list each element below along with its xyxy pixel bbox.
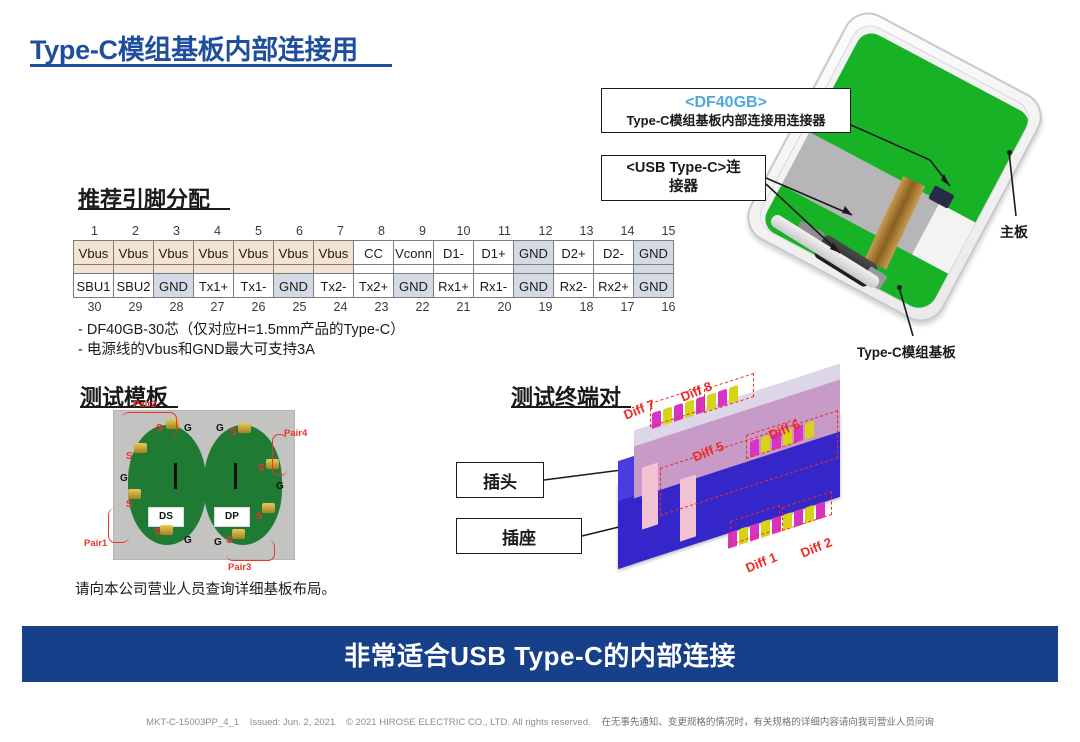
test-board-underline [80, 406, 178, 408]
pin-number-top-13: 13 [566, 222, 607, 240]
pin-assign-underline [78, 208, 230, 210]
callout-plug: 插头 [456, 462, 544, 498]
board-chip-label-ds: DS [148, 507, 184, 527]
pin-cell-top-14: D2- [593, 240, 634, 265]
pin-number-bottom-28: 28 [156, 298, 197, 316]
pin-cell-top-11: D1+ [473, 240, 514, 265]
pin-cell-divider-4 [193, 265, 234, 273]
board-slot-left [174, 463, 177, 489]
pin-cell-bottom-5: Tx1- [233, 273, 274, 298]
phone-body [738, 3, 1051, 330]
pin-cell-bottom-3: GND [153, 273, 194, 298]
pin-cell-top-12: GND [513, 240, 554, 265]
pin-number-top-2: 2 [115, 222, 156, 240]
pin-cell-top-10: D1- [433, 240, 474, 265]
pin-cell-divider-6 [273, 265, 314, 273]
pin-cell-divider-13 [553, 265, 594, 273]
label-typec-module: Type-C模组基板 [857, 341, 956, 361]
page-title: Type-C模组基板内部连接用 [30, 28, 358, 67]
board-pair-label-3: Pair3 [228, 562, 251, 573]
typec-module-leader-dot [897, 285, 902, 290]
board-label-g: G [184, 423, 192, 434]
pin-number-top-1: 1 [74, 222, 115, 240]
sma-connector [238, 423, 251, 433]
pin-cell-divider-15 [633, 265, 674, 273]
board-label-s: S [258, 463, 265, 474]
pin-notes: - DF40GB-30芯（仅对应H=1.5mm产品的Type-C） - 电源线的… [78, 320, 405, 360]
pin-cell-bottom-8: Tx2+ [353, 273, 394, 298]
test-board-caption: 请向本公司营业人员查询详细基板布局。 [75, 578, 336, 599]
sma-connector [128, 489, 141, 499]
connector-plug-leg-front [642, 462, 658, 529]
footer-issued: Issued: Jun. 2, 2021 [250, 717, 336, 728]
pin-table-bottom-numbers: 302928272625242322212019181716 [74, 298, 689, 316]
pin-cell-divider-3 [153, 265, 194, 273]
callout-receptacle-label: 插座 [502, 524, 536, 549]
pin-cell-divider-2 [113, 265, 154, 273]
pin-cell-top-15: GND [633, 240, 674, 265]
pin-cell-bottom-11: Rx1- [473, 273, 514, 298]
test-board-half-right [204, 425, 282, 545]
board-label-g: G [184, 535, 192, 546]
board-label-s: S [230, 427, 237, 438]
pin-cell-top-5: Vbus [233, 240, 274, 265]
board-label-s: S [126, 499, 133, 510]
device-illustration [745, 30, 1075, 330]
summary-banner-text: 非常适合USB Type-C的内部连接 [22, 626, 1058, 682]
pin-number-bottom-21: 21 [443, 298, 484, 316]
pin-number-top-5: 5 [238, 222, 279, 240]
callout-plug-label: 插头 [483, 468, 517, 493]
callout-df40gb: <DF40GB> Type-C模组基板内部连接用连接器 [601, 88, 851, 133]
board-label-g: G [120, 473, 128, 484]
board-pair-label-2: Pair2 [133, 399, 156, 410]
pin-number-bottom-27: 27 [197, 298, 238, 316]
pin-number-bottom-30: 30 [74, 298, 115, 316]
pin-table-top-numbers: 123456789101112131415 [74, 222, 689, 240]
board-label-g: G [216, 423, 224, 434]
pin-cell-top-2: Vbus [113, 240, 154, 265]
pin-number-bottom-26: 26 [238, 298, 279, 316]
label-mainboard: 主板 [1000, 222, 1028, 242]
board-label-g: G [276, 481, 284, 492]
connector-illustration [600, 395, 900, 580]
pin-number-bottom-29: 29 [115, 298, 156, 316]
pin-number-top-4: 4 [197, 222, 238, 240]
pin-note-1: - DF40GB-30芯（仅对应H=1.5mm产品的Type-C） [78, 320, 405, 340]
board-brace-2 [122, 412, 177, 437]
pin-cell-divider-5 [233, 265, 274, 273]
pin-cell-divider-7 [313, 265, 354, 273]
pin-number-top-3: 3 [156, 222, 197, 240]
pin-cell-bottom-15: GND [633, 273, 674, 298]
pin-cell-bottom-6: GND [273, 273, 314, 298]
board-label-g: G [214, 537, 222, 548]
board-pair-label-4: Pair4 [284, 428, 307, 439]
pin-number-bottom-23: 23 [361, 298, 402, 316]
pin-number-top-7: 7 [320, 222, 361, 240]
pin-number-bottom-25: 25 [279, 298, 320, 316]
pin-table-bottom-row: SBU1SBU2GNDTx1+Tx1-GNDTx2-Tx2+GNDRx1+Rx1… [74, 273, 689, 298]
slide-root: Type-C模组基板内部连接用 推荐引脚分配 12345678910111213… [0, 0, 1080, 742]
pin-cell-divider-8 [353, 265, 394, 273]
sma-connector [134, 443, 147, 453]
pin-cell-bottom-10: Rx1+ [433, 273, 474, 298]
pin-cell-divider-14 [593, 265, 634, 273]
board-brace-1 [108, 508, 129, 543]
pin-cell-bottom-13: Rx2- [553, 273, 594, 298]
phone-inner-cavity [753, 18, 1036, 315]
pin-number-top-6: 6 [279, 222, 320, 240]
board-pair-label-1: Pair1 [84, 538, 107, 549]
board-label-s: S [126, 451, 133, 462]
pin-cell-divider-1 [73, 265, 114, 273]
pin-cell-top-8: CC [353, 240, 394, 265]
pin-note-2: - 电源线的Vbus和GND最大可支持3A [78, 340, 405, 360]
pin-number-top-10: 10 [443, 222, 484, 240]
pin-cell-divider-9 [393, 265, 434, 273]
callout-usb-typec-line1: <USB Type-C>连 [626, 159, 740, 178]
pin-number-top-14: 14 [607, 222, 648, 240]
pin-cell-top-4: Vbus [193, 240, 234, 265]
footer: MKT-C-15003PP_4_1 Issued: Jun. 2, 2021 ©… [0, 714, 1080, 728]
pin-number-bottom-19: 19 [525, 298, 566, 316]
pin-assignment-table: 123456789101112131415 VbusVbusVbusVbusVb… [74, 222, 689, 316]
sma-connector [232, 529, 245, 539]
board-label-s: S [154, 527, 161, 538]
title-underline [30, 64, 392, 67]
pin-cell-bottom-7: Tx2- [313, 273, 354, 298]
pin-number-bottom-16: 16 [648, 298, 689, 316]
pin-cell-divider-12 [513, 265, 554, 273]
pin-number-top-8: 8 [361, 222, 402, 240]
pin-cell-top-7: Vbus [313, 240, 354, 265]
pin-number-bottom-18: 18 [566, 298, 607, 316]
pin-table-divider-row [74, 265, 689, 273]
pin-cell-top-9: Vconn [393, 240, 434, 265]
pin-cell-divider-11 [473, 265, 514, 273]
pin-table-top-row: VbusVbusVbusVbusVbusVbusVbusCCVconnD1-D1… [74, 240, 689, 265]
pin-cell-bottom-4: Tx1+ [193, 273, 234, 298]
pin-number-top-12: 12 [525, 222, 566, 240]
pin-number-bottom-24: 24 [320, 298, 361, 316]
board-brace-4 [272, 434, 287, 476]
pin-number-bottom-22: 22 [402, 298, 443, 316]
pin-cell-bottom-1: SBU1 [73, 273, 114, 298]
pin-cell-top-13: D2+ [553, 240, 594, 265]
board-chip-label-dp: DP [214, 507, 250, 527]
sma-connector [262, 503, 275, 513]
pin-number-top-11: 11 [484, 222, 525, 240]
callout-df40gb-title: <DF40GB> [685, 93, 767, 112]
footer-doc-id: MKT-C-15003PP_4_1 [146, 717, 239, 728]
pin-cell-bottom-14: Rx2+ [593, 273, 634, 298]
board-slot-right [234, 463, 237, 489]
callout-df40gb-desc: Type-C模组基板内部连接用连接器 [626, 112, 825, 129]
pin-number-top-15: 15 [648, 222, 689, 240]
board-brace-3 [226, 540, 275, 561]
footer-copyright: © 2021 HIROSE ELECTRIC CO., LTD. All rig… [346, 717, 591, 728]
pin-cell-bottom-2: SBU2 [113, 273, 154, 298]
pin-cell-bottom-12: GND [513, 273, 554, 298]
pin-cell-top-1: Vbus [73, 240, 114, 265]
callout-receptacle: 插座 [456, 518, 582, 554]
pin-number-bottom-20: 20 [484, 298, 525, 316]
callout-usb-typec: <USB Type-C>连 接器 [601, 155, 766, 201]
mainboard-leader-dot [1007, 150, 1012, 155]
pin-cell-bottom-9: GND [393, 273, 434, 298]
board-label-s: S [256, 511, 263, 522]
callout-usb-typec-line2: 接器 [669, 178, 698, 197]
pin-number-bottom-17: 17 [607, 298, 648, 316]
pin-number-top-9: 9 [402, 222, 443, 240]
footer-note: 在无事先通知、变更规格的情况时，有关规格的详细内容请向我司营业人员问询 [601, 717, 934, 728]
sma-connector [160, 525, 173, 535]
pin-cell-top-6: Vbus [273, 240, 314, 265]
pin-cell-top-3: Vbus [153, 240, 194, 265]
pin-cell-divider-10 [433, 265, 474, 273]
